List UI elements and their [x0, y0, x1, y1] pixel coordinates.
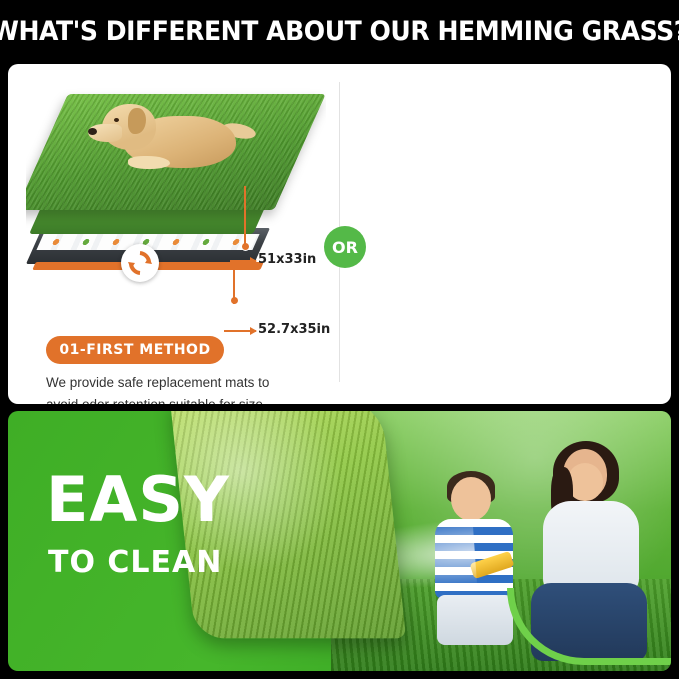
banner-title: EASY — [46, 471, 230, 529]
comparison-card: 51x33in 52.7x35in 01-FIRST METHOD We pro… — [8, 64, 671, 404]
boy-shorts — [437, 595, 513, 645]
measure-bottom-label: 52.7x35in — [258, 322, 330, 337]
easy-to-clean-banner: EASY TO CLEAN — [8, 411, 671, 671]
recycle-icon — [121, 244, 159, 282]
method-one-line2: avoid odor retention.suitable for size — [46, 397, 263, 404]
banner-subtitle: TO CLEAN — [48, 545, 222, 580]
boy-head — [451, 477, 491, 521]
method-one-pill: 01-FIRST METHOD — [46, 336, 224, 364]
dog-paw — [128, 156, 170, 169]
callout-line-top — [244, 186, 246, 246]
page-title: WHAT'S DIFFERENT ABOUT OUR HEMMING GRASS… — [0, 16, 679, 47]
method-one-body: We provide safe replacement mats to avoi… — [46, 372, 322, 404]
method-one-line1: We provide safe replacement mats to — [46, 375, 269, 390]
callout-arrow-bottom — [224, 330, 256, 332]
product-infographic: WHAT'S DIFFERENT ABOUT OUR HEMMING GRASS… — [0, 0, 679, 679]
method-one-pill-label: 01-FIRST METHOD — [59, 342, 210, 358]
headline-banner: WHAT'S DIFFERENT ABOUT OUR HEMMING GRASS… — [0, 0, 679, 62]
dog-photo — [88, 94, 248, 178]
or-badge-label: OR — [332, 238, 358, 257]
left-product-photo — [26, 76, 326, 321]
method-one-panel: 51x33in 52.7x35in 01-FIRST METHOD We pro… — [8, 64, 339, 404]
woman-torso — [543, 501, 639, 593]
method-two-panel: 02-FIRST METHOD The permeable grass mat … — [340, 64, 671, 404]
measure-top-label: 51x33in — [258, 252, 316, 267]
callout-line-bottom — [233, 260, 235, 304]
dog-nose — [88, 128, 97, 135]
dog-eye — [114, 118, 119, 122]
or-badge: OR — [324, 226, 366, 268]
